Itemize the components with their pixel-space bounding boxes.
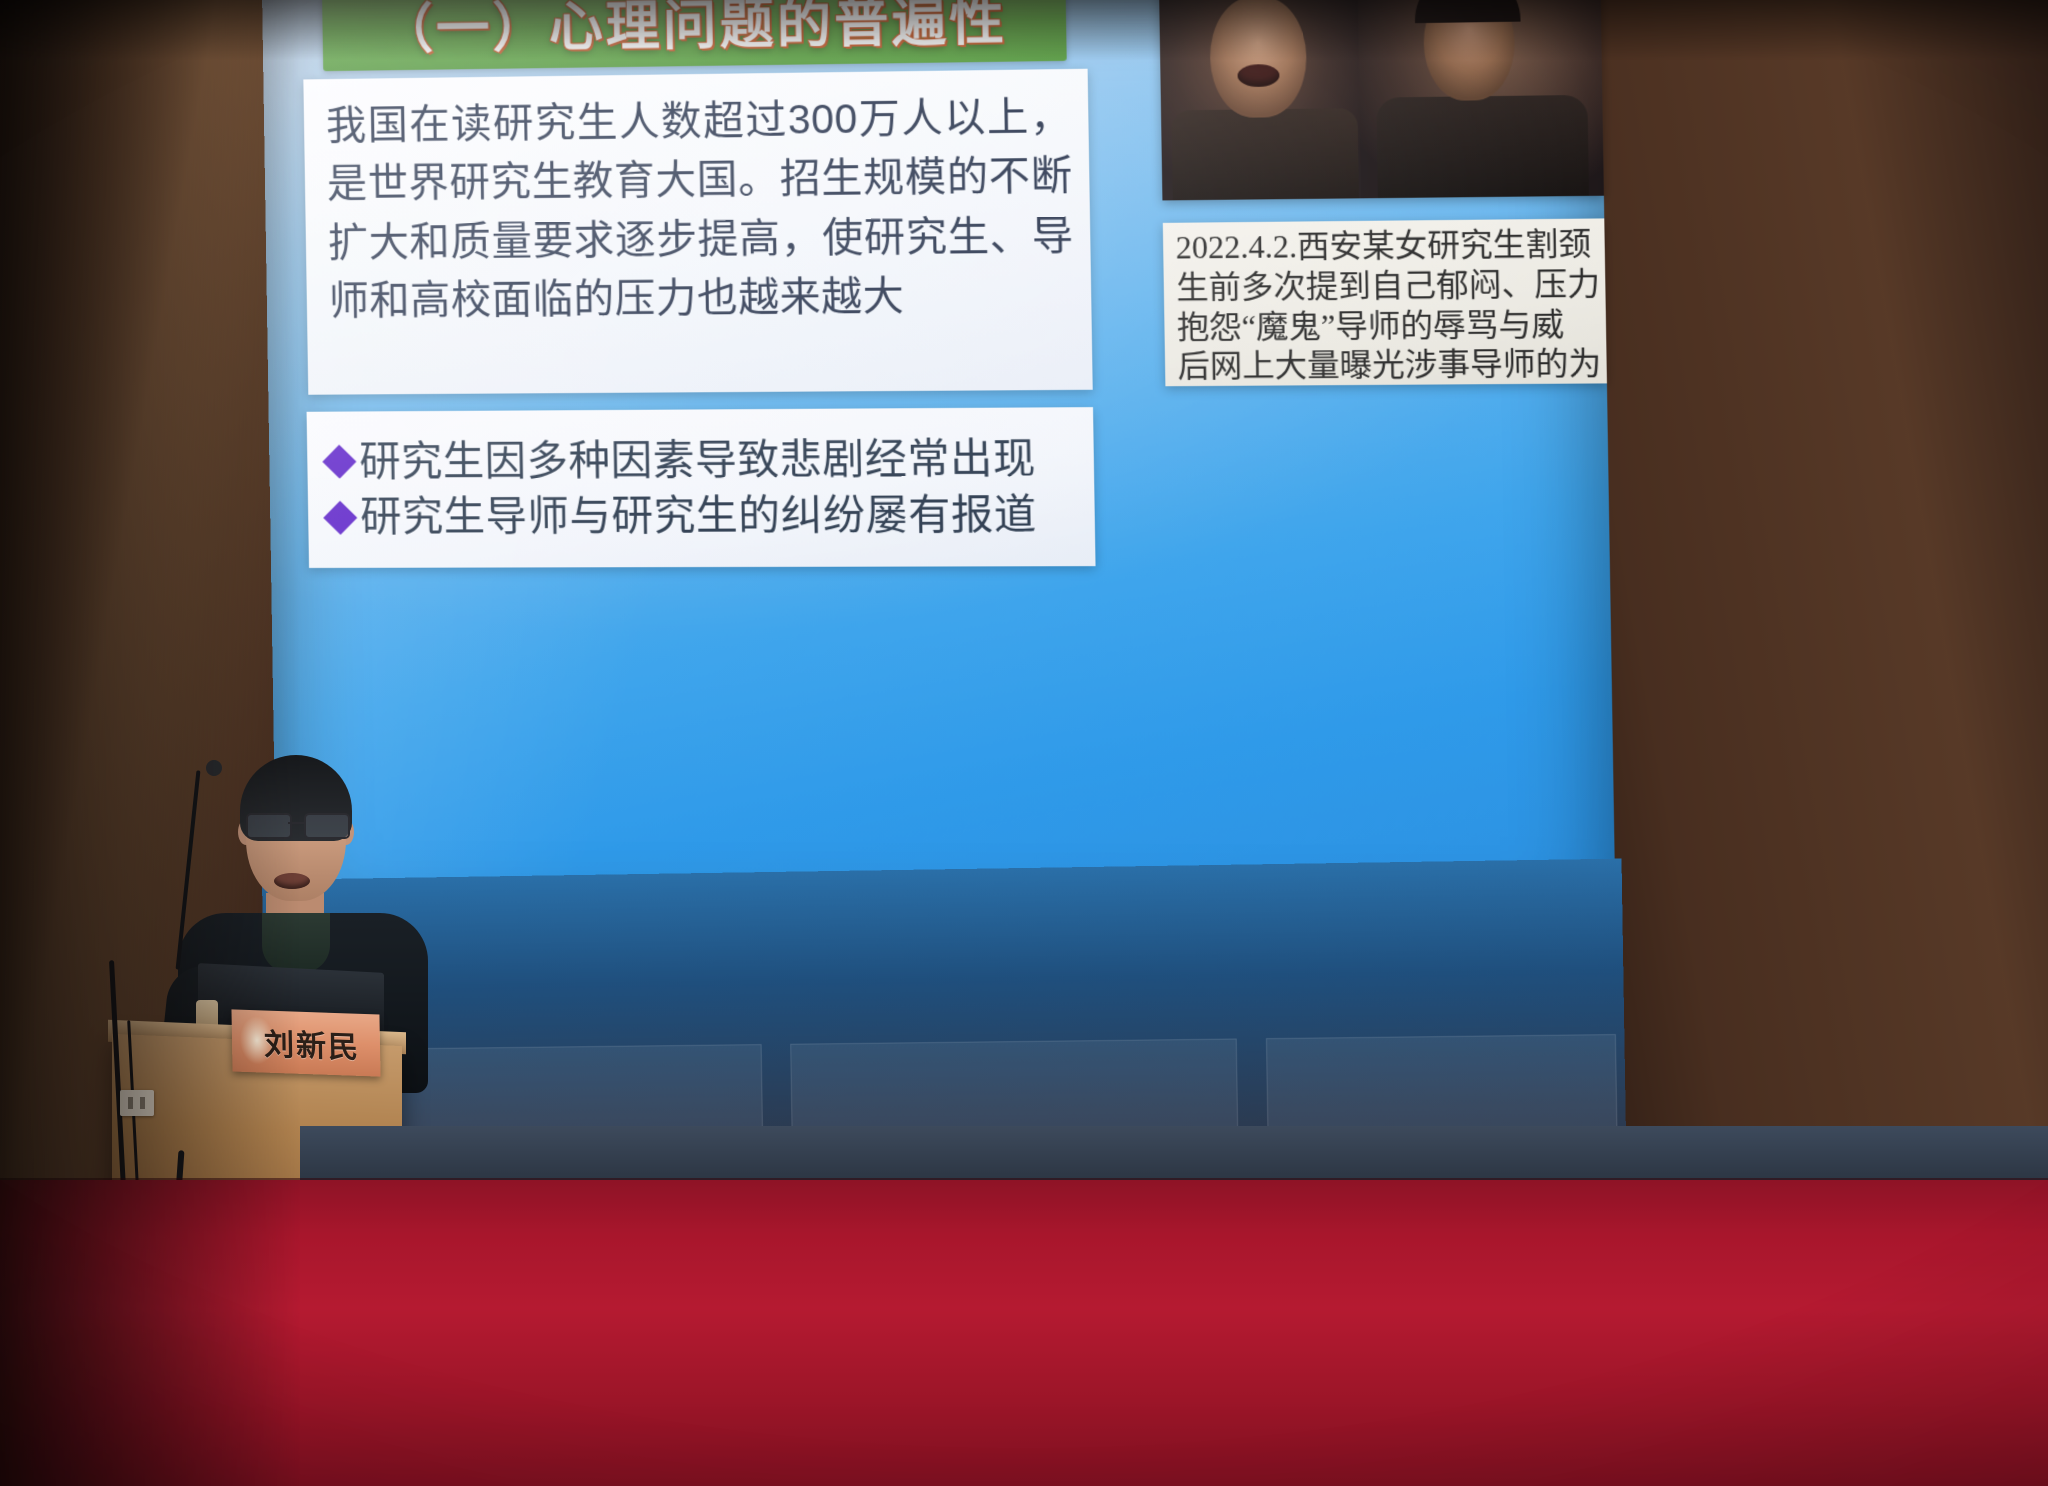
caption-line: 2022.4.2.西安某女研究生割颈 bbox=[1175, 225, 1596, 269]
red-carpet bbox=[0, 1180, 2048, 1486]
speaker-mouth bbox=[274, 873, 310, 889]
bullet-item-label: 研究生因多种因素导致悲剧经常出现 bbox=[359, 433, 1036, 488]
slide-title-banner: （一）心理问题的普遍性 bbox=[322, 0, 1067, 71]
podium-nameplate: 刘新民 bbox=[231, 1009, 380, 1076]
caption-line: 抱怨“魔鬼”导师的辱骂与威 bbox=[1177, 305, 1598, 348]
glasses-icon bbox=[242, 813, 354, 835]
slide-body-textbox: 我国在读研究生人数超过300万人以上，是世界研究生教育大国。招生规模的不断扩大和… bbox=[303, 69, 1092, 395]
slide-title-text: （一）心理问题的普遍性 bbox=[379, 0, 1007, 57]
slide-bullet-list: 研究生因多种因素导致悲剧经常出现 研究生导师与研究生的纠纷屡有报道 bbox=[307, 407, 1096, 568]
wall-socket bbox=[120, 1090, 154, 1116]
microphone-head bbox=[206, 760, 222, 776]
news-person2-hair bbox=[1414, 0, 1520, 23]
news-person2-body bbox=[1376, 95, 1589, 200]
news-person-body bbox=[1171, 108, 1359, 200]
caption-line: 生前多次提到自己郁闷、压力 bbox=[1176, 265, 1597, 308]
news-caption-box: 2022.4.2.西安某女研究生割颈 生前多次提到自己郁闷、压力 抱怨“魔鬼”导… bbox=[1163, 218, 1607, 386]
news-person-face bbox=[1209, 0, 1307, 118]
news-photograph bbox=[1159, 0, 1604, 200]
speaker-collar bbox=[262, 913, 330, 973]
nameplate-text: 刘新民 bbox=[264, 1020, 361, 1067]
diamond-bullet-icon bbox=[322, 445, 356, 479]
slide-body-paragraph: 我国在读研究生人数超过300万人以上，是世界研究生教育大国。招生规模的不断扩大和… bbox=[326, 87, 1075, 331]
presentation-photo-scene: （一）心理问题的普遍性 我国在读研究生人数超过300万人以上，是世界研究生教育大… bbox=[0, 0, 2048, 1486]
bullet-item: 研究生因多种因素导致悲剧经常出现 bbox=[325, 432, 1084, 487]
caption-line: 后网上大量曝光涉事导师的为 bbox=[1177, 345, 1598, 387]
diamond-bullet-icon bbox=[323, 500, 357, 534]
bullet-item: 研究生导师与研究生的纠纷屡有报道 bbox=[326, 489, 1085, 543]
bullet-item-label: 研究生导师与研究生的纠纷屡有报道 bbox=[360, 489, 1037, 543]
